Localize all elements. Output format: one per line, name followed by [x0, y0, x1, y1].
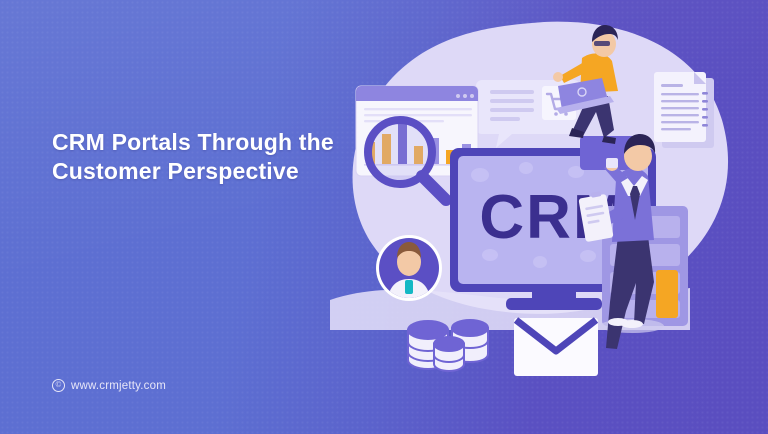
blog-banner: CRM — [0, 0, 768, 434]
database-stack-icon — [408, 320, 488, 371]
headline-line-2: Customer Perspective — [52, 157, 352, 186]
headline-line-1: CRM Portals Through the — [52, 128, 352, 157]
envelope-icon — [514, 318, 598, 376]
headline-strong: CRM Portals — [52, 129, 191, 155]
user-avatar-badge — [376, 235, 442, 301]
page-title: CRM Portals Through the Customer Perspec… — [52, 128, 352, 187]
website-url-text: www.crmjetty.com — [71, 380, 166, 392]
hero-illustration: CRM — [330, 0, 768, 434]
copyright-icon: © — [52, 379, 65, 392]
document-checklist-icon — [654, 72, 714, 148]
headline-regular: Through the — [191, 129, 334, 155]
footer-website[interactable]: © www.crmjetty.com — [52, 379, 166, 392]
